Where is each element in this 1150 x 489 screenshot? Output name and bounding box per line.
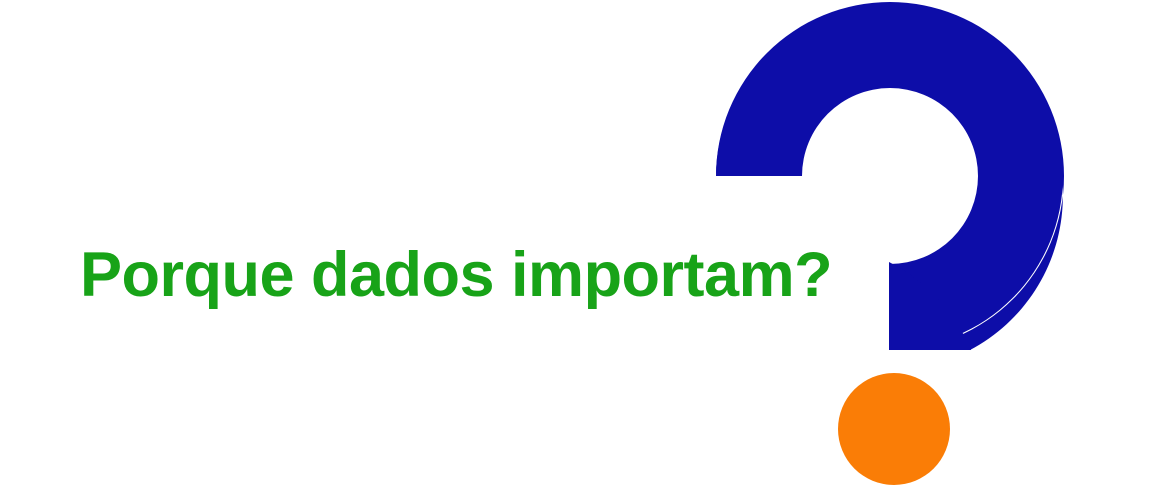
question-mark-svg bbox=[700, 0, 1080, 489]
question-mark-graphic bbox=[700, 0, 1080, 489]
slide-canvas: Porque dados importam? bbox=[0, 0, 1150, 489]
question-mark-dot bbox=[838, 373, 950, 485]
